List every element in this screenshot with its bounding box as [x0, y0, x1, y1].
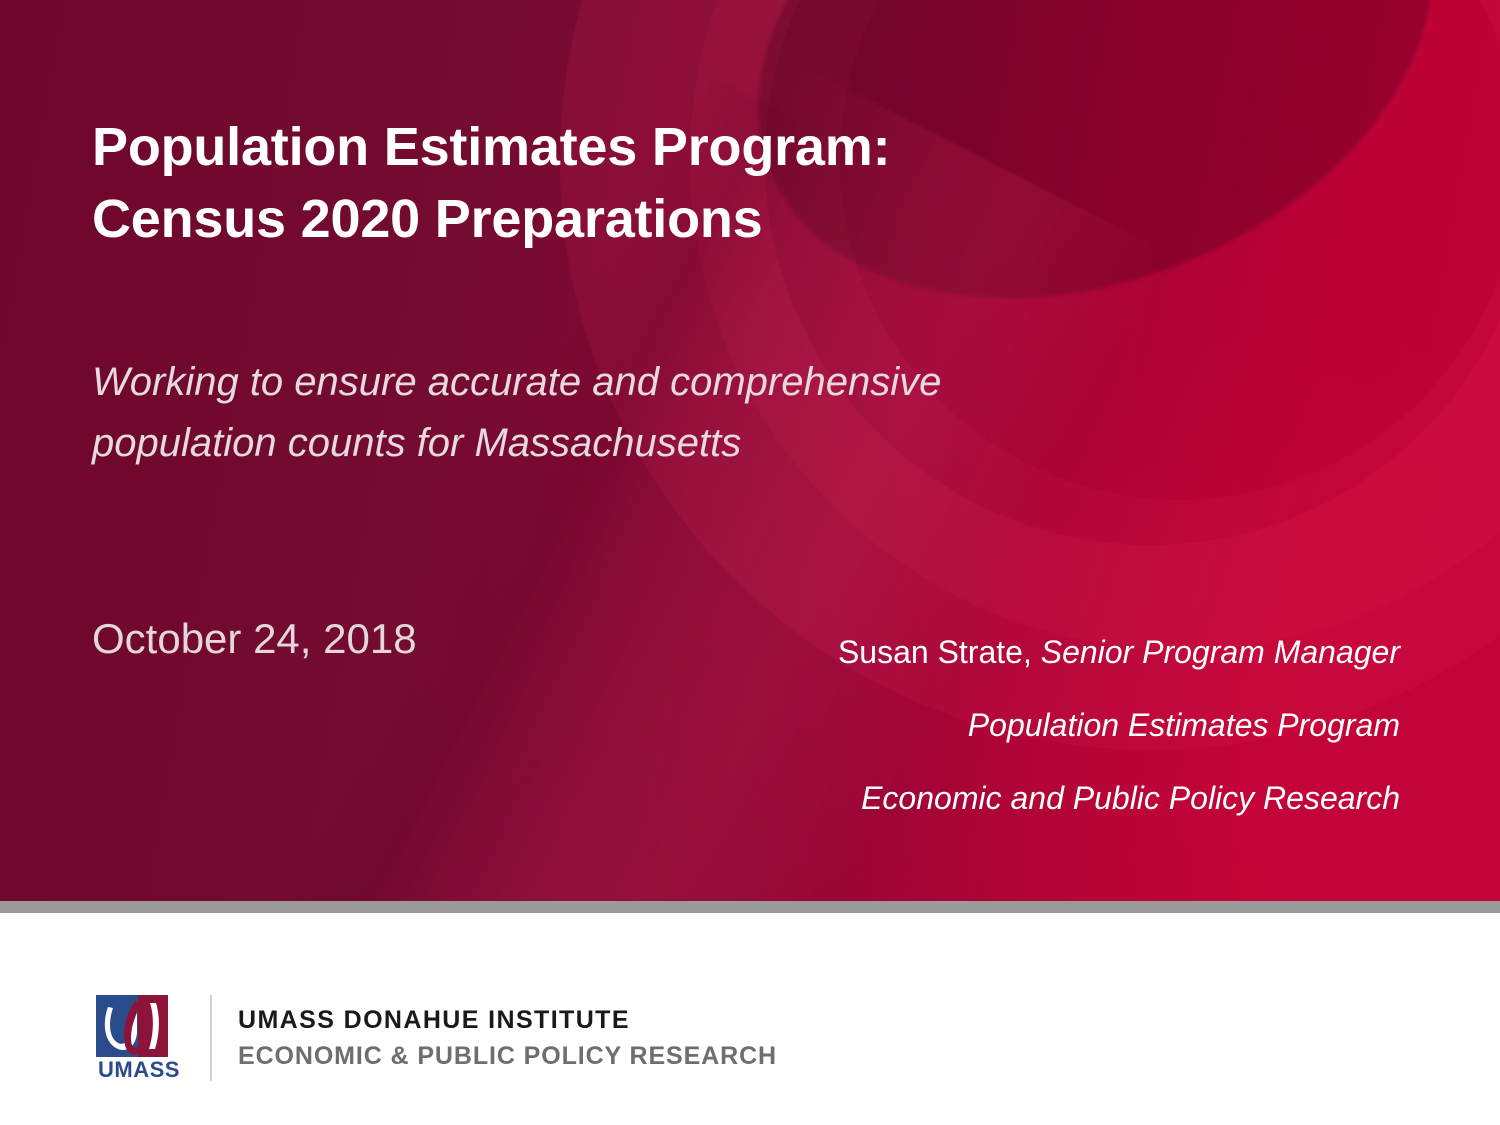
- page-subtitle: Working to ensure accurate and comprehen…: [92, 352, 972, 474]
- logo-text-block: UMASS DONAHUE INSTITUTE ECONOMIC & PUBLI…: [238, 1004, 777, 1072]
- presenter-name: Susan Strate,: [838, 634, 1032, 670]
- umass-donahue-logo: UMASS UMASS DONAHUE INSTITUTE ECONOMIC &…: [92, 993, 777, 1083]
- presenter-role: Senior Program Manager: [1041, 634, 1400, 670]
- department-name: ECONOMIC & PUBLIC POLICY RESEARCH: [238, 1040, 777, 1072]
- presentation-slide: Population Estimates Program: Census 202…: [0, 0, 1500, 1125]
- umass-seal-icon: UMASS: [92, 993, 192, 1083]
- presenter-division: Economic and Public Policy Research: [640, 782, 1400, 814]
- presenter-name-role-line: Susan Strate, Senior Program Manager: [640, 636, 1400, 668]
- umass-wordmark-text: UMASS: [98, 1057, 180, 1082]
- separator-bar: [0, 901, 1500, 913]
- page-title: Population Estimates Program: Census 202…: [92, 112, 1222, 256]
- organization-name: UMASS DONAHUE INSTITUTE: [238, 1004, 777, 1036]
- slide-footer: UMASS UMASS DONAHUE INSTITUTE ECONOMIC &…: [0, 913, 1500, 1125]
- presentation-date: October 24, 2018: [92, 614, 417, 664]
- umass-logo-mark-icon: UMASS: [92, 993, 192, 1083]
- logo-divider: [210, 995, 212, 1081]
- presenter-program: Population Estimates Program: [640, 709, 1400, 741]
- hero-panel: Population Estimates Program: Census 202…: [0, 0, 1500, 901]
- presenter-block: Susan Strate, Senior Program Manager Pop…: [640, 636, 1400, 814]
